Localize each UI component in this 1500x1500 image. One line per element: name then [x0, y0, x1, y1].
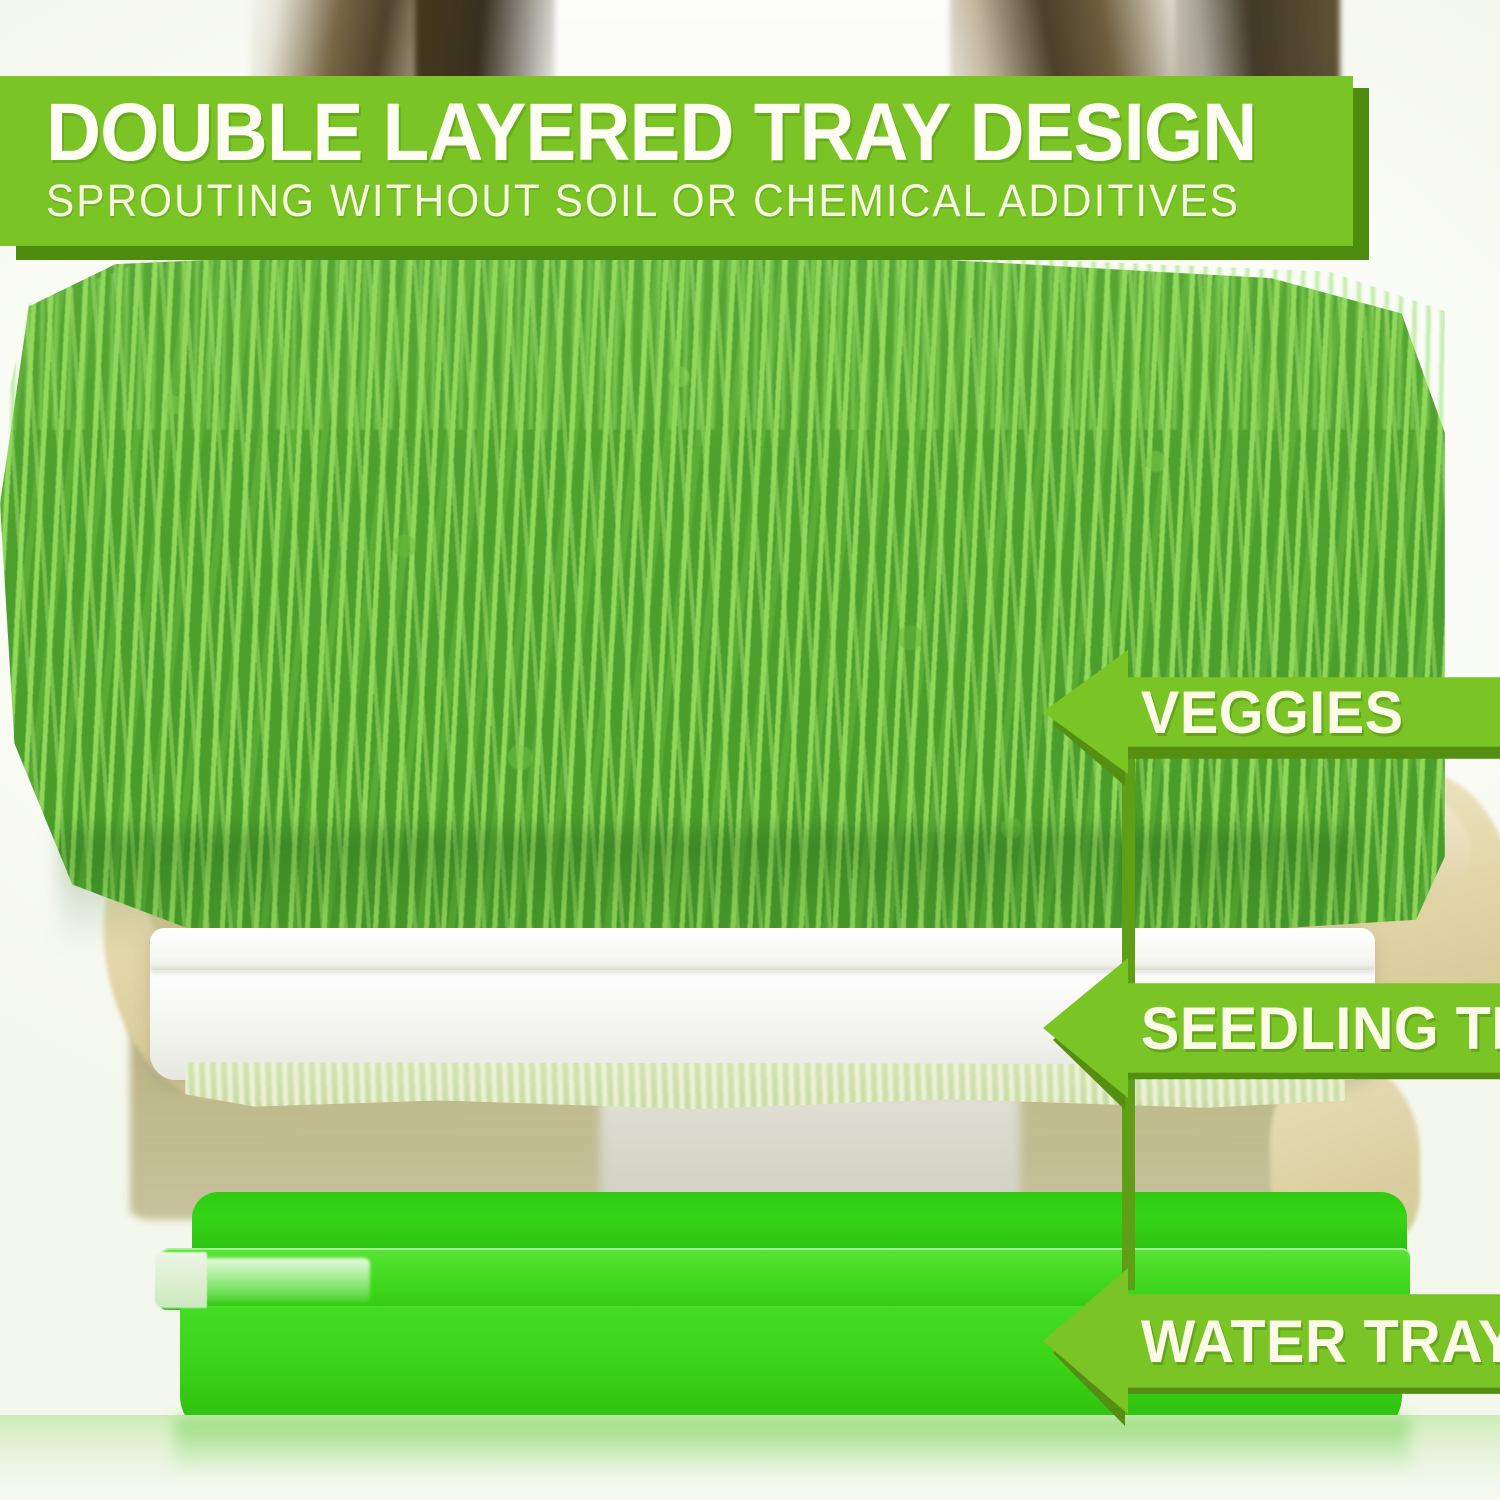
callout-label-seedling-tray: SEEDLING TRAY — [1043, 994, 1500, 1063]
microgreens-tendrils — [0, 250, 1445, 430]
product-infographic: DOUBLE LAYERED TRAY DESIGN SPROUTING WIT… — [0, 0, 1500, 1500]
header-banner: DOUBLE LAYERED TRAY DESIGN SPROUTING WIT… — [0, 76, 1353, 246]
water-tray-handle — [155, 1252, 207, 1308]
callout-label-veggies: VEGGIES — [1043, 678, 1404, 747]
water-tray-inner-lip — [192, 1192, 1407, 1250]
water-tray-highlight — [200, 1258, 370, 1302]
subheadline-text: SPROUTING WITHOUT SOIL OR CHEMICAL ADDIT… — [46, 178, 1275, 223]
headline-text: DOUBLE LAYERED TRAY DESIGN — [46, 95, 1262, 170]
callout-label-water-tray: WATER TRAY — [1043, 1307, 1500, 1376]
callout-veggies: VEGGIES — [1043, 650, 1500, 774]
callout-seedling-tray: SEEDLING TRAY — [1043, 958, 1500, 1098]
callout-water-tray: WATER TRAY — [1043, 1268, 1500, 1414]
table-reflection — [175, 1418, 1410, 1470]
